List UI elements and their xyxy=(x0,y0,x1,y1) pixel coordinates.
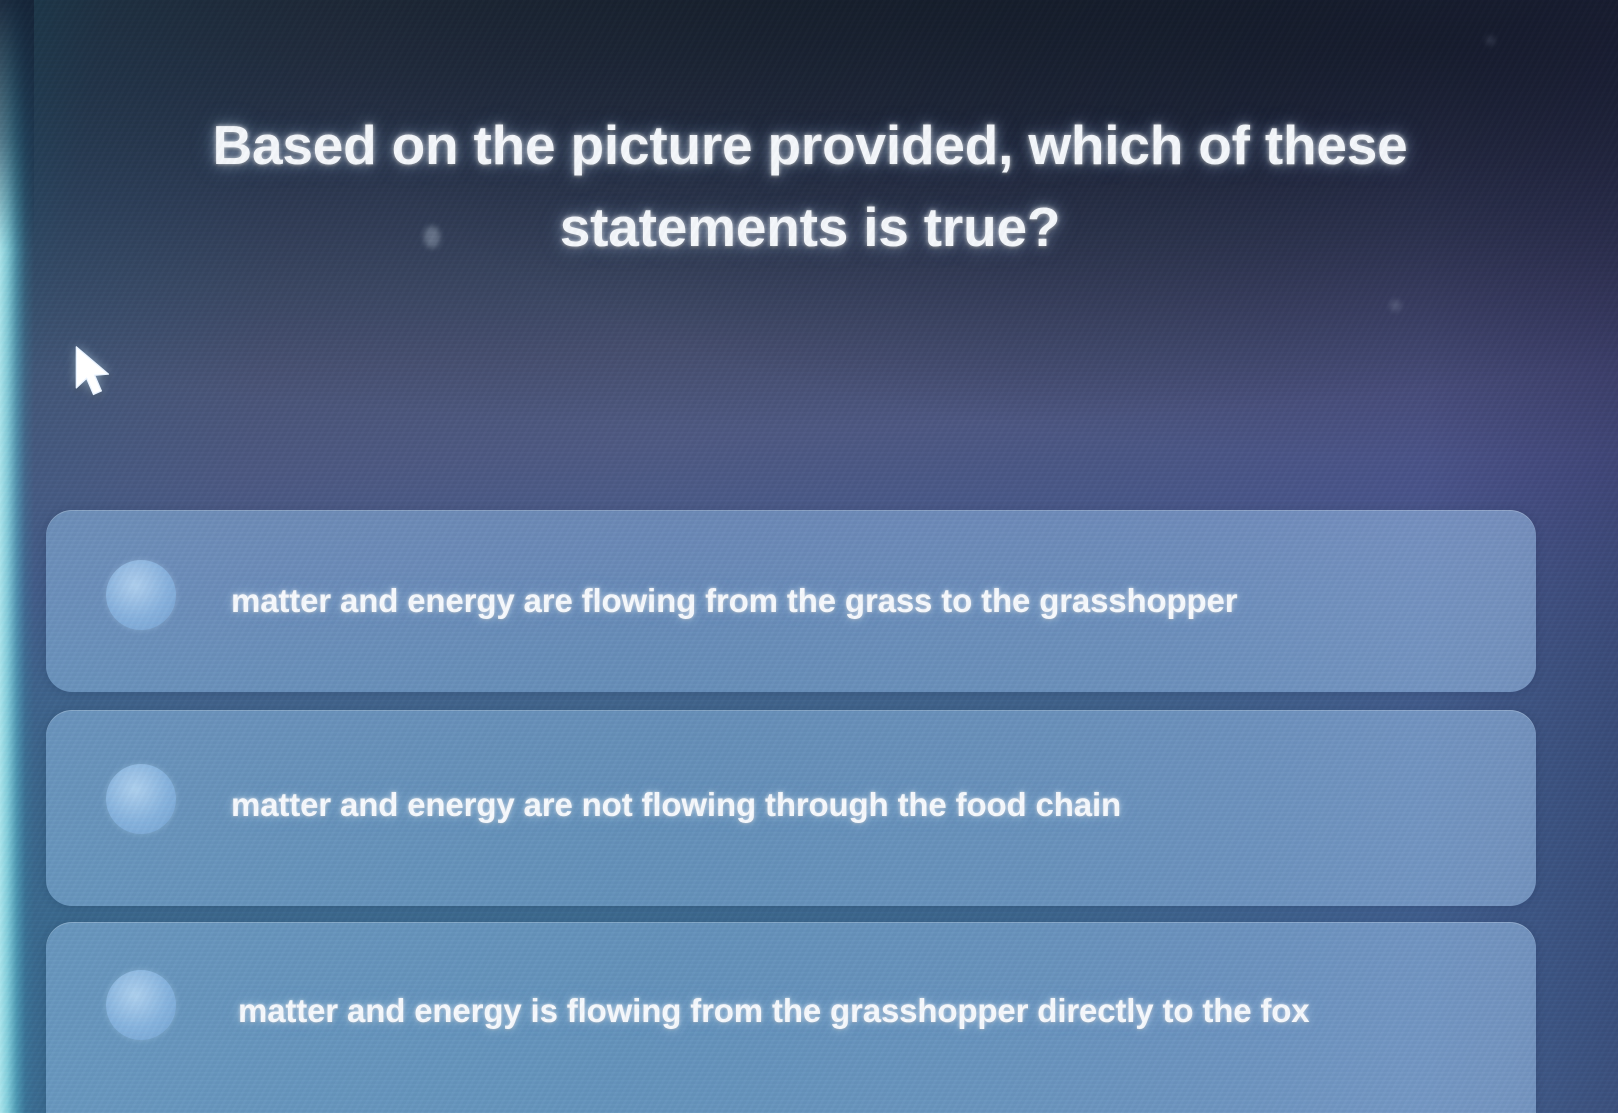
quiz-screen-photo: Based on the picture provided, which of … xyxy=(0,0,1618,1113)
answer-option-a-label: matter and energy are flowing from the g… xyxy=(231,582,1508,620)
radio-unselected-icon[interactable] xyxy=(106,970,176,1040)
answer-option-a[interactable]: matter and energy are flowing from the g… xyxy=(46,510,1536,692)
answer-option-c[interactable]: matter and energy is flowing from the gr… xyxy=(46,922,1536,1113)
answer-option-c-label: matter and energy is flowing from the gr… xyxy=(238,992,1508,1030)
answer-options-list: matter and energy are flowing from the g… xyxy=(0,0,1618,1113)
radio-unselected-icon[interactable] xyxy=(106,560,176,630)
answer-option-b-label: matter and energy are not flowing throug… xyxy=(231,786,1508,824)
answer-option-b[interactable]: matter and energy are not flowing throug… xyxy=(46,710,1536,906)
mouse-pointer-icon xyxy=(72,345,118,401)
radio-unselected-icon[interactable] xyxy=(106,764,176,834)
